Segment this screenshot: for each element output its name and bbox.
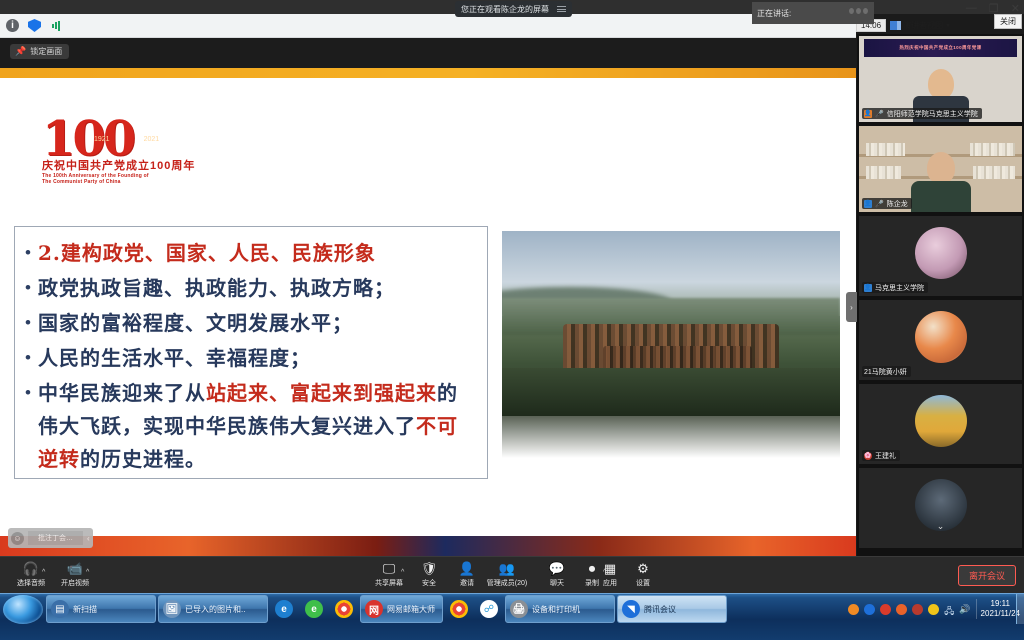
smiley-icon[interactable]: ☺ — [11, 532, 24, 545]
bullet-segment: 政党执政旨趣、执政能力、执政方略； — [38, 276, 395, 300]
anniversary-logo: 100 1921 2021 庆祝中国共产党成立100周年 The 100th A… — [42, 116, 232, 181]
shared-screen-stage[interactable]: 📌 锁定画面 100 1921 2021 庆祝中国共产党成立100周年 The … — [0, 38, 856, 556]
video-tile[interactable]: 21马院黄小妍 — [859, 300, 1022, 380]
avatar-badge-icon: 🌸 — [864, 452, 872, 460]
mic-muted-icon: 🎤 — [875, 200, 884, 208]
shield-icon[interactable] — [28, 19, 41, 32]
video-caret-icon[interactable]: ^ — [86, 569, 89, 576]
chevron-left-icon[interactable]: ‹ — [87, 534, 90, 543]
taskbar-item-tim[interactable]: ☍ — [475, 595, 503, 623]
collapse-panel-handle[interactable]: › — [846, 292, 857, 322]
annotation-toolbar[interactable]: ☺ 批注丁会… ‹ — [8, 528, 93, 548]
photo-fade-overlay — [502, 416, 840, 458]
taskbar-item-ie[interactable]: e — [270, 595, 298, 623]
taskbar-item-netease-mail[interactable]: 网 网易邮箱大师 — [360, 595, 443, 623]
folder-pictures-icon: 🖼 — [163, 600, 181, 618]
avatar-badge-icon: 👤 — [864, 200, 872, 208]
participant-nametag: 🌸 王建礼 — [862, 450, 900, 461]
chrome-icon — [450, 600, 468, 618]
slide-bullet-line: •2.建构政党、国家、人民、民族形象 — [25, 237, 475, 270]
show-desktop-button[interactable] — [1016, 594, 1024, 624]
bullet-marker-icon: • — [25, 307, 31, 339]
avatar-badge-icon: 👤 — [864, 110, 872, 118]
participant-name: 信阳师范学院马克思主义学院 — [887, 109, 978, 119]
video-button[interactable]: 📹 开启视频 — [46, 561, 104, 588]
slide-text-box: •2.建构政党、国家、人民、民族形象•政党执政旨趣、执政能力、执政方略；•国家的… — [14, 226, 488, 479]
lock-view-button[interactable]: 📌 锁定画面 — [10, 44, 69, 59]
taskbar-item-label: 新扫描 — [73, 604, 97, 615]
lecture-room-screen: 热烈庆祝中国共产党成立100周年党课 — [864, 39, 1017, 56]
slide-bullet-line: •政党执政旨趣、执政能力、执政方略； — [25, 272, 475, 305]
slide-bottom-band — [0, 536, 856, 556]
logo-year-left: 1921 — [94, 136, 110, 143]
participant-name: 马克思主义学院 — [875, 283, 924, 293]
participant-name: 陈企龙 — [887, 199, 908, 209]
signal-icon[interactable] — [50, 19, 63, 32]
presenter-view-selector[interactable]: 演讲者视图 ▾ — [890, 20, 950, 31]
taskbar-item-chrome-2[interactable] — [445, 595, 473, 623]
bullet-segment: 的历史进程。 — [80, 447, 206, 471]
share-banner-text: 您正在观看陈企龙的屏幕 — [461, 4, 549, 15]
scanner-icon: ▤ — [51, 600, 69, 618]
drag-handle-icon[interactable] — [557, 6, 566, 12]
bullet-marker-icon: • — [25, 377, 31, 409]
bullet-marker-icon: • — [25, 237, 31, 269]
taskbar-item-browser-green[interactable]: e — [300, 595, 328, 623]
pin-icon: 📌 — [15, 46, 26, 57]
mic-muted-icon: 🎤 — [875, 110, 884, 118]
bullet-marker-icon: • — [25, 272, 31, 304]
participant-nametag: 👤 马克思主义学院 — [862, 282, 928, 293]
participant-nametag: 👤 🎤 信阳师范学院马克思主义学院 — [862, 108, 982, 119]
tencent-meeting-icon: ◥ — [622, 600, 640, 618]
logo-year-right: 2021 — [144, 136, 160, 143]
tim-icon: ☍ — [480, 600, 498, 618]
gear-icon: ⚙ — [637, 561, 649, 576]
logo-title-en-2: The Communist Party of China — [42, 179, 232, 185]
bullet-marker-icon: • — [25, 342, 31, 374]
taskbar-item-scanner[interactable]: ▤ 新扫描 — [46, 595, 156, 623]
close-tooltip: 关闭 — [994, 14, 1022, 29]
chat-label: 聊天 — [550, 578, 564, 588]
slide-bullet-line: •中华民族迎来了从站起来、富起来到强起来的伟大飞跃，实现中华民族伟大复兴进入了不… — [25, 377, 475, 476]
audio-label: 选择音频 — [17, 578, 45, 588]
avatar-badge-icon: 👤 — [864, 284, 872, 292]
tencent-meeting-tray-icon[interactable] — [864, 604, 875, 615]
system-tray[interactable]: 🖧 🔊 19:11 2021/11/24 — [844, 594, 1024, 624]
info-icon[interactable]: i — [6, 19, 19, 32]
participant-nametag: 👤 🎤 陈企龙 — [862, 198, 912, 209]
powerpoint-slide: 100 1921 2021 庆祝中国共产党成立100周年 The 100th A… — [0, 68, 856, 556]
clock-date: 2021/11/24 — [981, 609, 1020, 618]
printer-icon: 🖨 — [510, 600, 528, 618]
aerial-village-photo — [502, 231, 840, 416]
audio-caret-icon[interactable]: ^ — [42, 569, 45, 576]
chevron-down-icon[interactable]: ▾ — [946, 21, 950, 30]
browser-toolbar: i — [0, 14, 856, 38]
bullet-segment: 2.建构政党、国家、人民、民族形象 — [38, 241, 376, 265]
taskbar-clock[interactable]: 19:11 2021/11/24 — [976, 599, 1020, 619]
camera-off-icon: 📹 — [67, 561, 83, 576]
slide-top-band — [0, 68, 856, 78]
participant-name: 王建礼 — [875, 451, 896, 461]
shield-person-icon: 🛡 — [421, 561, 438, 576]
meeting-toolbar[interactable]: 🎧 选择音频 ^ 📹 开启视频 ^ 🖵 共享屏幕 ^ 🛡 安全 👤 邀请 👥 管… — [0, 556, 1024, 593]
bullet-segment: 国家的富裕程度、文明发展水平； — [38, 311, 353, 335]
screen-share-banner[interactable]: 您正在观看陈企龙的屏幕 — [455, 1, 572, 17]
internet-explorer-icon: e — [275, 600, 293, 618]
lock-view-label: 锁定画面 — [30, 46, 62, 57]
slide-bullet-line: •国家的富裕程度、文明发展水平； — [25, 307, 475, 340]
start-orb-icon[interactable] — [3, 595, 43, 624]
share-top-bar: 📌 锁定画面 — [0, 38, 856, 68]
avatar — [915, 227, 967, 279]
taskbar-item-pictures[interactable]: 🖼 已导入的图片和.. — [158, 595, 268, 623]
presenter-view-label: 演讲者视图 — [903, 20, 943, 31]
slide-bullet-text: 政党执政旨趣、执政能力、执政方略； — [38, 272, 395, 305]
speaking-label: 正在讲话: — [757, 8, 791, 19]
speaking-indicator-bar: 正在讲话: — [752, 2, 874, 24]
update-tray-icon[interactable] — [928, 604, 939, 615]
sogou-icon[interactable] — [848, 604, 859, 615]
clock-tray-icon[interactable] — [912, 604, 923, 615]
headset-icon: 🎧 — [23, 561, 39, 576]
settings-button[interactable]: ⚙ 设置 — [614, 561, 672, 588]
video-tile[interactable]: ⌄ — [859, 468, 1022, 548]
taskbar-item-label: 设备和打印机 — [532, 604, 580, 615]
slide-bullet-line: •人民的生活水平、幸福程度； — [25, 342, 475, 375]
taskbar-item-label: 已导入的图片和.. — [185, 604, 245, 615]
logo-title-cn: 庆祝中国共产党成立100周年 — [42, 157, 232, 173]
manage-members-label: 管理成员(20) — [487, 578, 527, 588]
netease-mail-icon: 网 — [365, 600, 383, 618]
taskbar-item-printers[interactable]: 🖨 设备和打印机 — [505, 595, 615, 623]
slide-bullet-text: 中华民族迎来了从站起来、富起来到强起来的伟大飞跃，实现中华民族伟大复兴进入了不可… — [38, 377, 475, 476]
avatar — [915, 395, 967, 447]
taskbar-item-label: 网易邮箱大师 — [387, 604, 435, 615]
leave-meeting-button[interactable]: 离开会议 — [958, 565, 1016, 586]
layout-icon — [890, 21, 900, 30]
members-icon: 👥 — [499, 561, 515, 576]
video-tile[interactable]: 👤 🎤 陈企龙 — [859, 126, 1022, 212]
avatar — [915, 311, 967, 363]
participant-name: 21马院黄小妍 — [864, 367, 907, 377]
settings-label: 设置 — [636, 578, 650, 588]
video-tile[interactable]: 热烈庆祝中国共产党成立100周年党课 👤 🎤 信阳师范学院马克思主义学院 — [859, 36, 1022, 122]
taskbar-item-chrome-1[interactable] — [330, 595, 358, 623]
taskbar-item-label: 腾讯会议 — [644, 604, 676, 615]
chrome-icon — [335, 600, 353, 618]
slide-bullet-text: 国家的富裕程度、文明发展水平； — [38, 307, 353, 340]
share-screen-label: 共享屏幕 — [375, 578, 403, 588]
chrome-tray-icon[interactable] — [896, 604, 907, 615]
bullet-segment: 人民的生活水平、幸福程度； — [38, 346, 311, 370]
bullet-segment: 站起来、富起来到强起来 — [206, 381, 437, 405]
video-label: 开启视频 — [61, 578, 89, 588]
shield-tray-icon[interactable] — [880, 604, 891, 615]
minimize-button[interactable]: — — [966, 2, 977, 15]
annotate-label[interactable]: 批注丁会… — [28, 531, 83, 545]
taskbar-item-tencent-meeting[interactable]: ◥ 腾讯会议 — [617, 595, 727, 623]
participant-nametag: 21马院黄小妍 — [862, 366, 911, 377]
network-icon[interactable]: 🖧 — [944, 604, 954, 615]
audio-wave-icon — [849, 8, 868, 14]
chevron-down-icon[interactable]: ⌄ — [937, 521, 945, 532]
clock-time: 19:11 — [991, 599, 1010, 608]
participant-video-list[interactable]: 热烈庆祝中国共产党成立100周年党课 👤 🎤 信阳师范学院马克思主义学院 👤 🎤… — [857, 34, 1024, 556]
volume-icon[interactable]: 🔊 — [959, 604, 970, 615]
video-tile[interactable]: 👤 马克思主义学院 — [859, 216, 1022, 296]
video-tile[interactable]: 🌸 王建礼 — [859, 384, 1022, 464]
browser-green-icon: e — [305, 600, 323, 618]
slide-bullet-text: 人民的生活水平、幸福程度； — [38, 342, 311, 375]
windows-taskbar[interactable]: ▤ 新扫描 🖼 已导入的图片和.. e e 网 网易邮箱大师 ☍ 🖨 设备和打印… — [0, 593, 1024, 640]
bullet-segment: 中华民族迎来了从 — [38, 381, 206, 405]
share-screen-icon: 🖵 — [383, 561, 396, 576]
security-label: 安全 — [422, 578, 436, 588]
slide-bullet-text: 2.建构政党、国家、人民、民族形象 — [38, 237, 376, 270]
